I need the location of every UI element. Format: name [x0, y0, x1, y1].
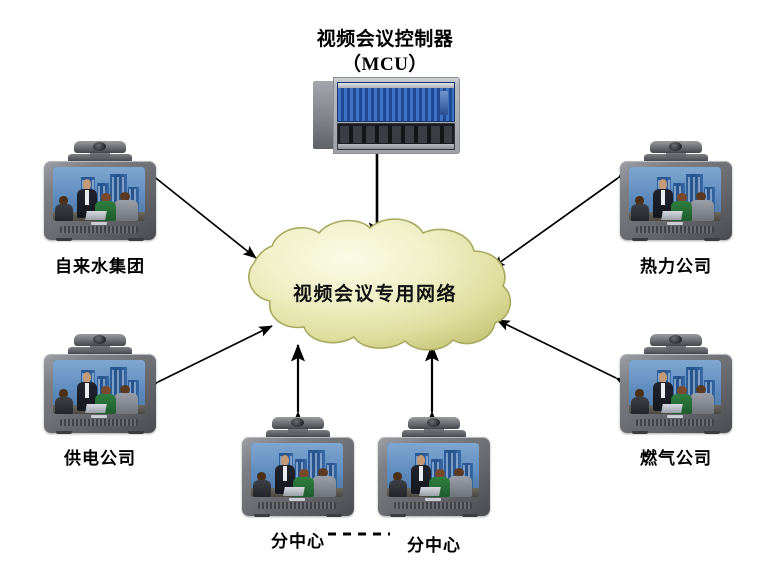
screen-photo-person: [389, 472, 407, 497]
screen-photo-person: [448, 468, 472, 497]
connector-power-company-cloud: [158, 326, 272, 382]
screen-photo-laptop: [661, 211, 683, 220]
monitor-screen: [251, 443, 343, 497]
node-sub-center-2[interactable]: [378, 416, 490, 516]
monitor-speaker-grille: [394, 502, 472, 509]
screen-photo-person: [690, 192, 714, 221]
screen-photo-person: [114, 192, 138, 221]
screen-photo-laptop: [419, 487, 441, 496]
mcu-side-panel: [313, 81, 335, 149]
screen-photo-laptop: [661, 404, 683, 413]
node-heating-company[interactable]: [620, 140, 732, 240]
monitor-speaker-grille: [636, 419, 714, 426]
node-water-group[interactable]: [44, 140, 156, 240]
monitor-speaker-grille: [60, 419, 138, 426]
screen-photo-person: [312, 468, 336, 497]
node-label-gas-company: 燃气公司: [593, 444, 759, 469]
monitor-foot: [704, 431, 720, 434]
monitor-foot: [128, 431, 144, 434]
monitor-screen: [53, 360, 145, 414]
monitor-foot: [462, 514, 478, 517]
monitor-screen: [629, 167, 721, 221]
node-gas-company[interactable]: [620, 333, 732, 433]
monitor-screen: [387, 443, 479, 497]
node-label-sub-center-2: 分中心: [351, 531, 517, 556]
screen-photo-laptop: [283, 487, 305, 496]
monitor-speaker-grille: [60, 226, 138, 233]
mcu-blade-stripes: [338, 83, 454, 121]
monitor-brand-logo: [667, 415, 683, 418]
mcu-lower-bay: [337, 123, 455, 150]
monitor-foot: [390, 514, 406, 517]
node-label-heating-company: 热力公司: [593, 252, 759, 277]
screen-photo-person: [631, 196, 649, 221]
node-power-company[interactable]: [44, 333, 156, 433]
network-diagram: 视频会议控制器 （MCU） 视频会议专用网络: [0, 0, 776, 582]
monitor-brand-logo: [91, 222, 107, 225]
connector-gas-company-cloud: [497, 320, 616, 378]
monitor-screen: [53, 167, 145, 221]
camera-lens-icon: [669, 142, 682, 151]
monitor-brand-logo: [667, 222, 683, 225]
mcu-lower-bay-rail: [338, 144, 454, 149]
monitor-brand-logo: [91, 415, 107, 418]
monitor-foot: [632, 431, 648, 434]
mcu-blade-handle: [440, 91, 448, 115]
connector-water-group-cloud: [152, 175, 256, 258]
mcu-blade-cards: [337, 82, 455, 122]
monitor-foot: [326, 514, 342, 517]
screen-photo-person: [55, 389, 73, 414]
screen-photo-person: [55, 196, 73, 221]
monitor-brand-logo: [289, 498, 305, 501]
monitor-foot: [56, 431, 72, 434]
node-label-water-group: 自来水集团: [17, 252, 183, 277]
screen-photo-person: [253, 472, 271, 497]
monitor-foot: [128, 238, 144, 241]
camera-lens-icon: [93, 142, 106, 151]
monitor-foot: [254, 514, 270, 517]
monitor-screen: [629, 360, 721, 414]
screen-photo-laptop: [85, 211, 107, 220]
monitor-speaker-grille: [636, 226, 714, 233]
node-mcu[interactable]: [313, 77, 458, 152]
node-sub-center-1[interactable]: [242, 416, 354, 516]
screen-photo-laptop: [85, 404, 107, 413]
camera-lens-icon: [669, 335, 682, 344]
screen-photo-person: [631, 389, 649, 414]
screen-photo-person: [114, 385, 138, 414]
node-label-power-company: 供电公司: [17, 444, 183, 469]
monitor-foot: [632, 238, 648, 241]
cloud-label: 视频会议专用网络: [230, 279, 520, 306]
mcu-blade-rail: [338, 83, 454, 88]
camera-lens-icon: [93, 335, 106, 344]
mcu-lower-bay-modules: [340, 126, 452, 143]
monitor-foot: [704, 238, 720, 241]
camera-lens-icon: [427, 418, 440, 427]
mcu-title: 视频会议控制器 （MCU）: [255, 27, 515, 77]
monitor-brand-logo: [425, 498, 441, 501]
monitor-speaker-grille: [258, 502, 336, 509]
screen-photo-person: [690, 385, 714, 414]
monitor-foot: [56, 238, 72, 241]
camera-lens-icon: [291, 418, 304, 427]
